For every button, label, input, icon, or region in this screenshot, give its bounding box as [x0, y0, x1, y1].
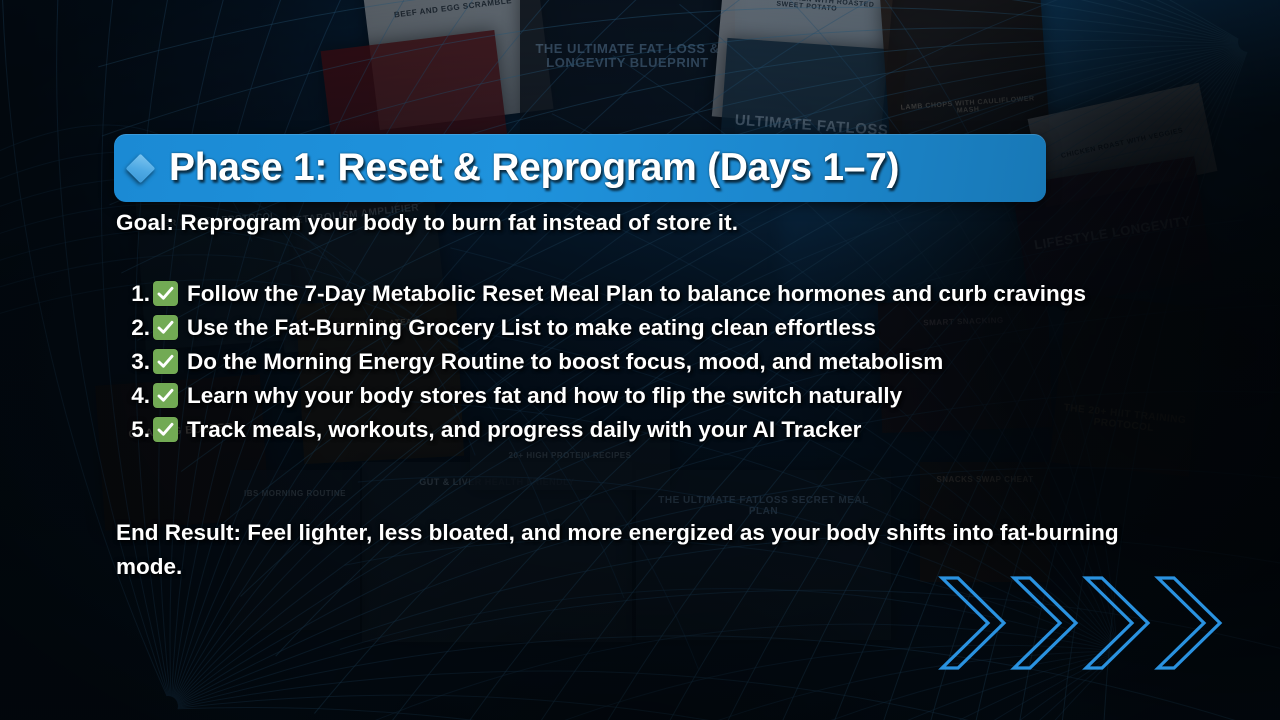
steps-list: 1.Follow the 7-Day Metabolic Reset Meal …: [118, 277, 1148, 447]
goal-statement: Goal: Reprogram your body to burn fat in…: [116, 210, 738, 236]
list-item-label: Use the Fat-Burning Grocery List to make…: [187, 311, 1148, 345]
green-check-icon: [153, 349, 178, 374]
list-item-label: Track meals, workouts, and progress dail…: [187, 413, 1148, 447]
green-check-icon: [153, 281, 178, 306]
phase-title-bar: Phase 1: Reset & Reprogram (Days 1–7): [114, 134, 1046, 202]
diamond-icon: [126, 153, 156, 183]
list-item-number: 3.: [118, 345, 150, 379]
list-item-number: 2.: [118, 311, 150, 345]
list-item: 4.Learn why your body stores fat and how…: [118, 379, 1148, 413]
list-item-number: 4.: [118, 379, 150, 413]
slide-root: BEEF AND EGG SCRAMBLERESET NUTRITIONTHE …: [0, 0, 1280, 720]
list-item-label: Follow the 7-Day Metabolic Reset Meal Pl…: [187, 277, 1148, 311]
list-item-label: Do the Morning Energy Routine to boost f…: [187, 345, 1148, 379]
page-title: Phase 1: Reset & Reprogram (Days 1–7): [169, 146, 899, 190]
green-check-icon: [153, 417, 178, 442]
list-item-number: 5.: [118, 413, 150, 447]
list-item-label: Learn why your body stores fat and how t…: [187, 379, 1148, 413]
list-item: 5.Track meals, workouts, and progress da…: [118, 413, 1148, 447]
list-item: 1.Follow the 7-Day Metabolic Reset Meal …: [118, 277, 1148, 311]
list-item-number: 1.: [118, 277, 150, 311]
green-check-icon: [153, 315, 178, 340]
list-item: 2.Use the Fat-Burning Grocery List to ma…: [118, 311, 1148, 345]
end-result-statement: End Result: Feel lighter, less bloated, …: [116, 516, 1162, 584]
slide-content: Phase 1: Reset & Reprogram (Days 1–7) Go…: [0, 0, 1280, 720]
green-check-icon: [153, 383, 178, 408]
list-item: 3.Do the Morning Energy Routine to boost…: [118, 345, 1148, 379]
